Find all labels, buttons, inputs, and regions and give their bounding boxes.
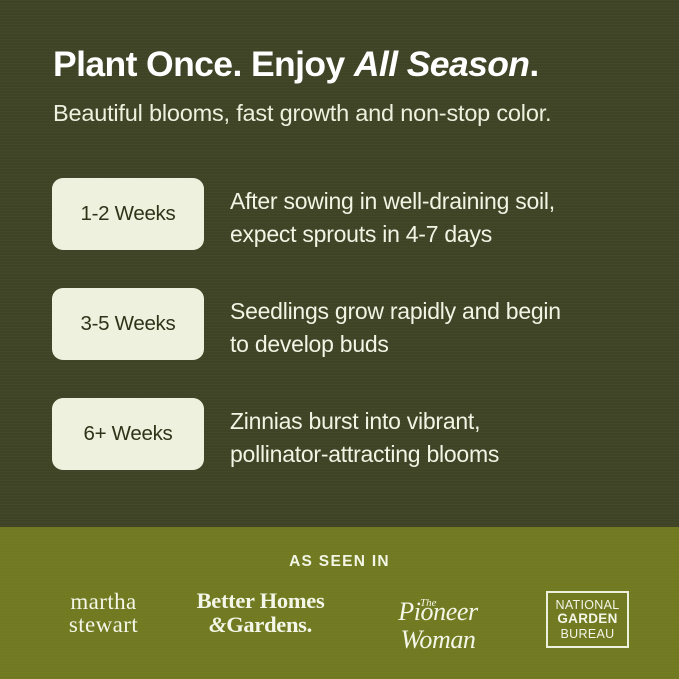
- timeline-step-description-line2: expect sprouts in 4-7 days: [230, 218, 650, 251]
- timeline-step-description-line2: pollinator-attracting blooms: [230, 438, 650, 471]
- timeline-step-description: Seedlings grow rapidly and begin to deve…: [230, 295, 650, 361]
- timeline-step-description-line1: Zinnias burst into vibrant,: [230, 405, 650, 438]
- the-pioneer-woman-logo: The Pioneer Woman: [358, 598, 518, 654]
- timeline-step-description-line1: After sowing in well-draining soil,: [230, 185, 650, 218]
- ngb-logo-line3: BUREAU: [561, 627, 615, 642]
- timeline-step-duration-label: 1-2 Weeks: [81, 202, 176, 226]
- infographic-root: Plant Once. Enjoy All Season. Beautiful …: [0, 0, 679, 679]
- ngb-logo-line2: GARDEN: [557, 612, 617, 627]
- pioneer-woman-logo-main: Pioneer Woman: [358, 598, 518, 654]
- timeline-step-duration-pill: 1-2 Weeks: [52, 178, 204, 250]
- page-subtitle: Beautiful blooms, fast growth and non-st…: [53, 98, 663, 128]
- headline-text-part1: Plant Once. Enjoy: [53, 44, 354, 84]
- martha-stewart-logo: martha stewart: [36, 590, 171, 636]
- timeline-step: 6+ Weeks Zinnias burst into vibrant, pol…: [0, 398, 679, 508]
- timeline-step-duration-label: 3-5 Weeks: [81, 312, 176, 336]
- timeline-step: 3-5 Weeks Seedlings grow rapidly and beg…: [0, 288, 679, 398]
- martha-stewart-logo-line2: stewart: [36, 613, 171, 636]
- press-logo-list: martha stewart Better Homes &Gardens. Th…: [0, 588, 679, 652]
- timeline-step-description-line1: Seedlings grow rapidly and begin: [230, 295, 650, 328]
- bhg-logo-line1: Better Homes: [197, 588, 325, 613]
- bhg-logo-gardens: Gardens.: [226, 612, 312, 637]
- timeline-step-duration-pill: 6+ Weeks: [52, 398, 204, 470]
- timeline-step: 1-2 Weeks After sowing in well-draining …: [0, 178, 679, 288]
- ngb-logo-line1: NATIONAL: [556, 598, 620, 613]
- timeline-step-description: Zinnias burst into vibrant, pollinator-a…: [230, 405, 650, 471]
- better-homes-and-gardens-logo: Better Homes &Gardens.: [178, 589, 343, 637]
- headline-text-part2: .: [529, 44, 538, 84]
- headline-emphasis: All Season: [354, 44, 530, 84]
- timeline-step-description: After sowing in well-draining soil, expe…: [230, 185, 650, 251]
- growth-timeline-list: 1-2 Weeks After sowing in well-draining …: [0, 178, 679, 508]
- as-seen-in-title: AS SEEN IN: [0, 553, 679, 571]
- martha-stewart-logo-line1: martha: [70, 589, 136, 614]
- national-garden-bureau-logo: NATIONAL GARDEN BUREAU: [546, 591, 629, 648]
- hero-section: Plant Once. Enjoy All Season. Beautiful …: [0, 0, 679, 527]
- page-title: Plant Once. Enjoy All Season.: [53, 42, 653, 86]
- timeline-step-duration-label: 6+ Weeks: [84, 422, 173, 446]
- bhg-logo-line2: &Gardens.: [178, 613, 343, 637]
- bhg-ampersand: &: [209, 612, 226, 637]
- timeline-step-duration-pill: 3-5 Weeks: [52, 288, 204, 360]
- pioneer-woman-logo-the: The: [420, 589, 437, 617]
- timeline-step-description-line2: to develop buds: [230, 328, 650, 361]
